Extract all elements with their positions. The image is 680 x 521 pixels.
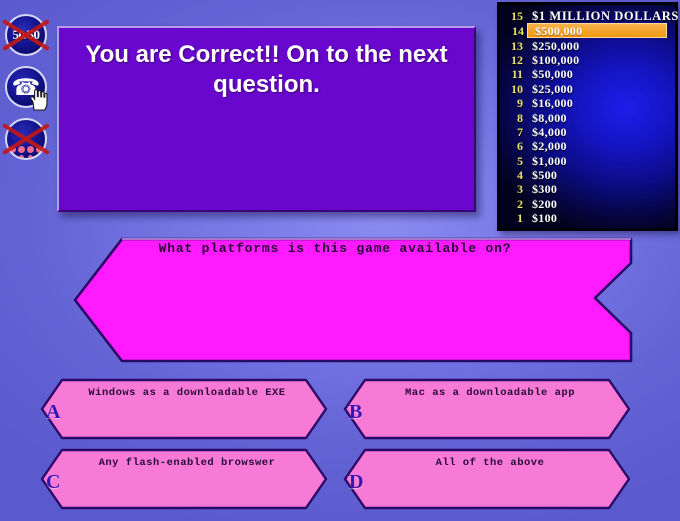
ladder-prize-amount: $4,000 [532,126,567,138]
ladder-rung: 4$500 [500,168,675,182]
money-ladder-panel: 15$1 MILLION DOLLARS14$500,00013$250,000… [497,2,678,231]
ladder-level-number: 9 [500,97,532,109]
ladder-rung: 9$16,000 [500,96,675,110]
ladder-prize-amount: $1 MILLION DOLLARS [532,10,679,23]
answer-letter-d: D [349,472,363,492]
ladder-level-number: 2 [500,198,532,210]
ladder-level-number: 5 [500,155,532,167]
ladder-rung: 10$25,000 [500,82,675,96]
ladder-prize-amount: $200 [532,198,557,210]
ladder-prize-amount: $2,000 [532,140,567,152]
ladder-level-number: 10 [500,83,532,95]
ladder-prize-amount: $500,000 [528,25,582,37]
ladder-prize-amount: $25,000 [532,83,573,95]
audience-icon [5,118,47,160]
ladder-prize-amount: $300 [532,183,557,195]
answer-letter-b: B [349,402,362,422]
result-message-box: You are Correct!! On to the next questio… [57,26,476,212]
ladder-prize-amount: $100,000 [532,54,579,66]
ladder-rung: 6$2,000 [500,139,675,153]
question-banner: What platforms is this game available on… [36,236,634,364]
ladder-level-number: 14 [501,25,533,37]
ladder-prize-amount: $16,000 [532,97,573,109]
ladder-prize-amount: $50,000 [532,68,573,80]
lifelines-panel: 50/50 ☎ [2,12,54,168]
answer-option-b[interactable]: B Mac as a downloadable app [343,378,631,440]
answer-text-a: Windows as a downloadable EXE [62,387,312,399]
ladder-level-number: 6 [500,140,532,152]
lifeline-fifty-fifty[interactable]: 50/50 [2,12,50,58]
ladder-level-number: 4 [500,169,532,181]
ladder-level-number: 8 [500,112,532,124]
ladder-level-number: 13 [500,40,532,52]
hand-cursor-icon [28,88,48,112]
answer-letter-a: A [46,402,60,422]
ladder-rung: 1$100 [500,211,675,225]
ladder-level-number: 7 [500,126,532,138]
answer-option-d[interactable]: D All of the above [343,448,631,510]
lifeline-fifty-fifty-label: 50/50 [7,16,45,54]
answer-text-c: Any flash-enabled browswer [62,457,312,469]
ladder-rung: 14$500,000 [527,23,667,38]
lifeline-ask-the-audience[interactable] [2,116,50,162]
ladder-prize-amount: $1,000 [532,155,567,167]
ladder-rung: 7$4,000 [500,125,675,139]
audience-glyph [7,120,45,158]
ladder-rung: 3$300 [500,182,675,196]
ladder-rung: 15$1 MILLION DOLLARS [500,9,675,23]
answer-text-d: All of the above [365,457,615,469]
answer-option-a[interactable]: A Windows as a downloadable EXE [40,378,328,440]
ladder-level-number: 3 [500,183,532,195]
ladder-rung: 13$250,000 [500,38,675,52]
ladder-level-number: 15 [500,10,532,22]
ladder-level-number: 1 [500,212,532,224]
ladder-prize-amount: $250,000 [532,40,579,52]
answer-text-b: Mac as a downloadable app [365,387,615,399]
ladder-rung: 8$8,000 [500,110,675,124]
ladder-prize-amount: $100 [532,212,557,224]
result-message-text: You are Correct!! On to the next questio… [77,40,457,100]
ladder-prize-amount: $500 [532,169,557,181]
ladder-rung: 2$200 [500,197,675,211]
lifeline-phone-a-friend[interactable]: ☎ [2,64,50,110]
fifty-fifty-icon: 50/50 [5,14,47,56]
ladder-rung: 5$1,000 [500,154,675,168]
answer-option-c[interactable]: C Any flash-enabled browswer [40,448,328,510]
ladder-prize-amount: $8,000 [532,112,567,124]
millionaire-game-screen: 50/50 ☎ You are Correct!! On to the next… [0,0,680,521]
ladder-level-number: 12 [500,54,532,66]
question-text: What platforms is this game available on… [36,241,634,256]
ladder-level-number: 11 [500,68,532,80]
ladder-rung: 11$50,000 [500,67,675,81]
ladder-rung: 12$100,000 [500,53,675,67]
answer-letter-c: C [46,472,60,492]
